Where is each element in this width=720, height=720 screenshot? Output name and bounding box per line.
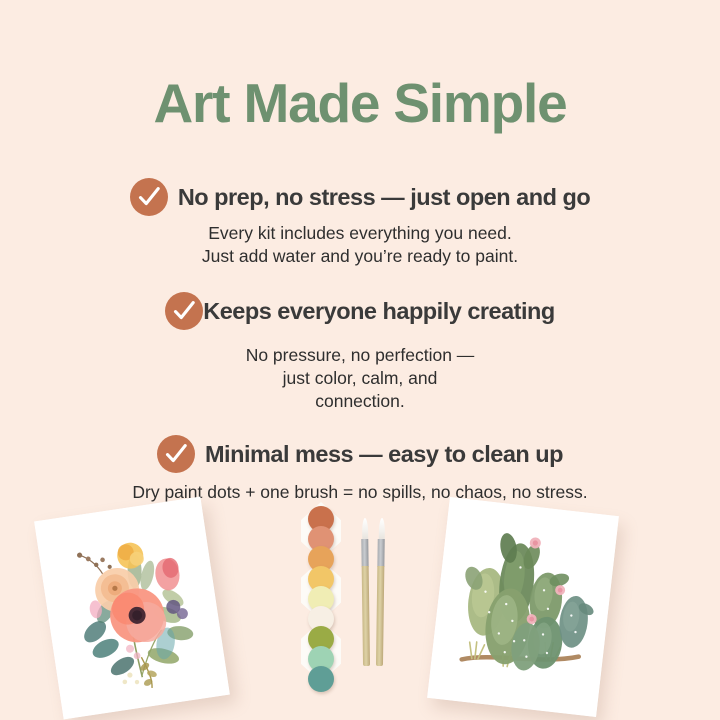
check-circle-icon	[157, 435, 195, 473]
benefit-1-line-2: Just add water and you’re ready to paint…	[0, 245, 720, 268]
benefit-1-title: No prep, no stress — just open and go	[178, 182, 590, 212]
cactus-illustration	[427, 497, 619, 717]
benefit-1-description: Every kit includes everything you need. …	[0, 222, 720, 268]
benefit-item-2: Keeps everyone happily creating No press…	[0, 292, 720, 413]
paint-dot-strip	[298, 502, 344, 682]
check-circle-icon	[165, 292, 203, 330]
poster-canvas: Art Made Simple No prep, no stress — jus…	[0, 0, 720, 720]
benefit-1-line-1: Every kit includes everything you need.	[0, 222, 720, 245]
benefit-2-description: No pressure, no perfection — just color,…	[0, 344, 720, 413]
brush-ferrule	[377, 539, 384, 567]
brush-handle	[376, 566, 384, 666]
floral-bouquet-illustration	[34, 497, 230, 720]
product-scene	[0, 490, 720, 720]
brush-handle	[362, 566, 370, 666]
paint-brush-left	[361, 518, 370, 666]
cactus-art-card	[427, 497, 619, 717]
floral-art-card-inner	[34, 497, 230, 720]
benefit-3-header: Minimal mess — easy to clean up	[0, 435, 720, 473]
benefit-2-title: Keeps everyone happily creating	[203, 296, 555, 326]
brush-ferrule	[361, 539, 368, 567]
benefit-2-header: Keeps everyone happily creating	[0, 292, 720, 330]
brush-tip-icon	[361, 518, 367, 540]
floral-art-card	[34, 497, 230, 720]
benefits-list: No prep, no stress — just open and go Ev…	[0, 178, 720, 504]
page-title: Art Made Simple	[0, 72, 720, 134]
benefit-2-line-1: No pressure, no perfection —	[0, 344, 720, 367]
benefit-1-header: No prep, no stress — just open and go	[0, 178, 720, 216]
cactus-art-card-inner	[427, 497, 619, 717]
paint-brush-right	[376, 518, 385, 666]
paint-dot-9	[308, 666, 334, 692]
benefit-2-line-3: connection.	[0, 390, 720, 413]
brush-tip-icon	[378, 518, 384, 540]
benefit-item-1: No prep, no stress — just open and go Ev…	[0, 178, 720, 268]
paint-brushes	[362, 518, 396, 666]
check-circle-icon	[130, 178, 168, 216]
benefit-2-line-2: just color, calm, and	[0, 367, 720, 390]
benefit-3-title: Minimal mess — easy to clean up	[205, 439, 563, 469]
